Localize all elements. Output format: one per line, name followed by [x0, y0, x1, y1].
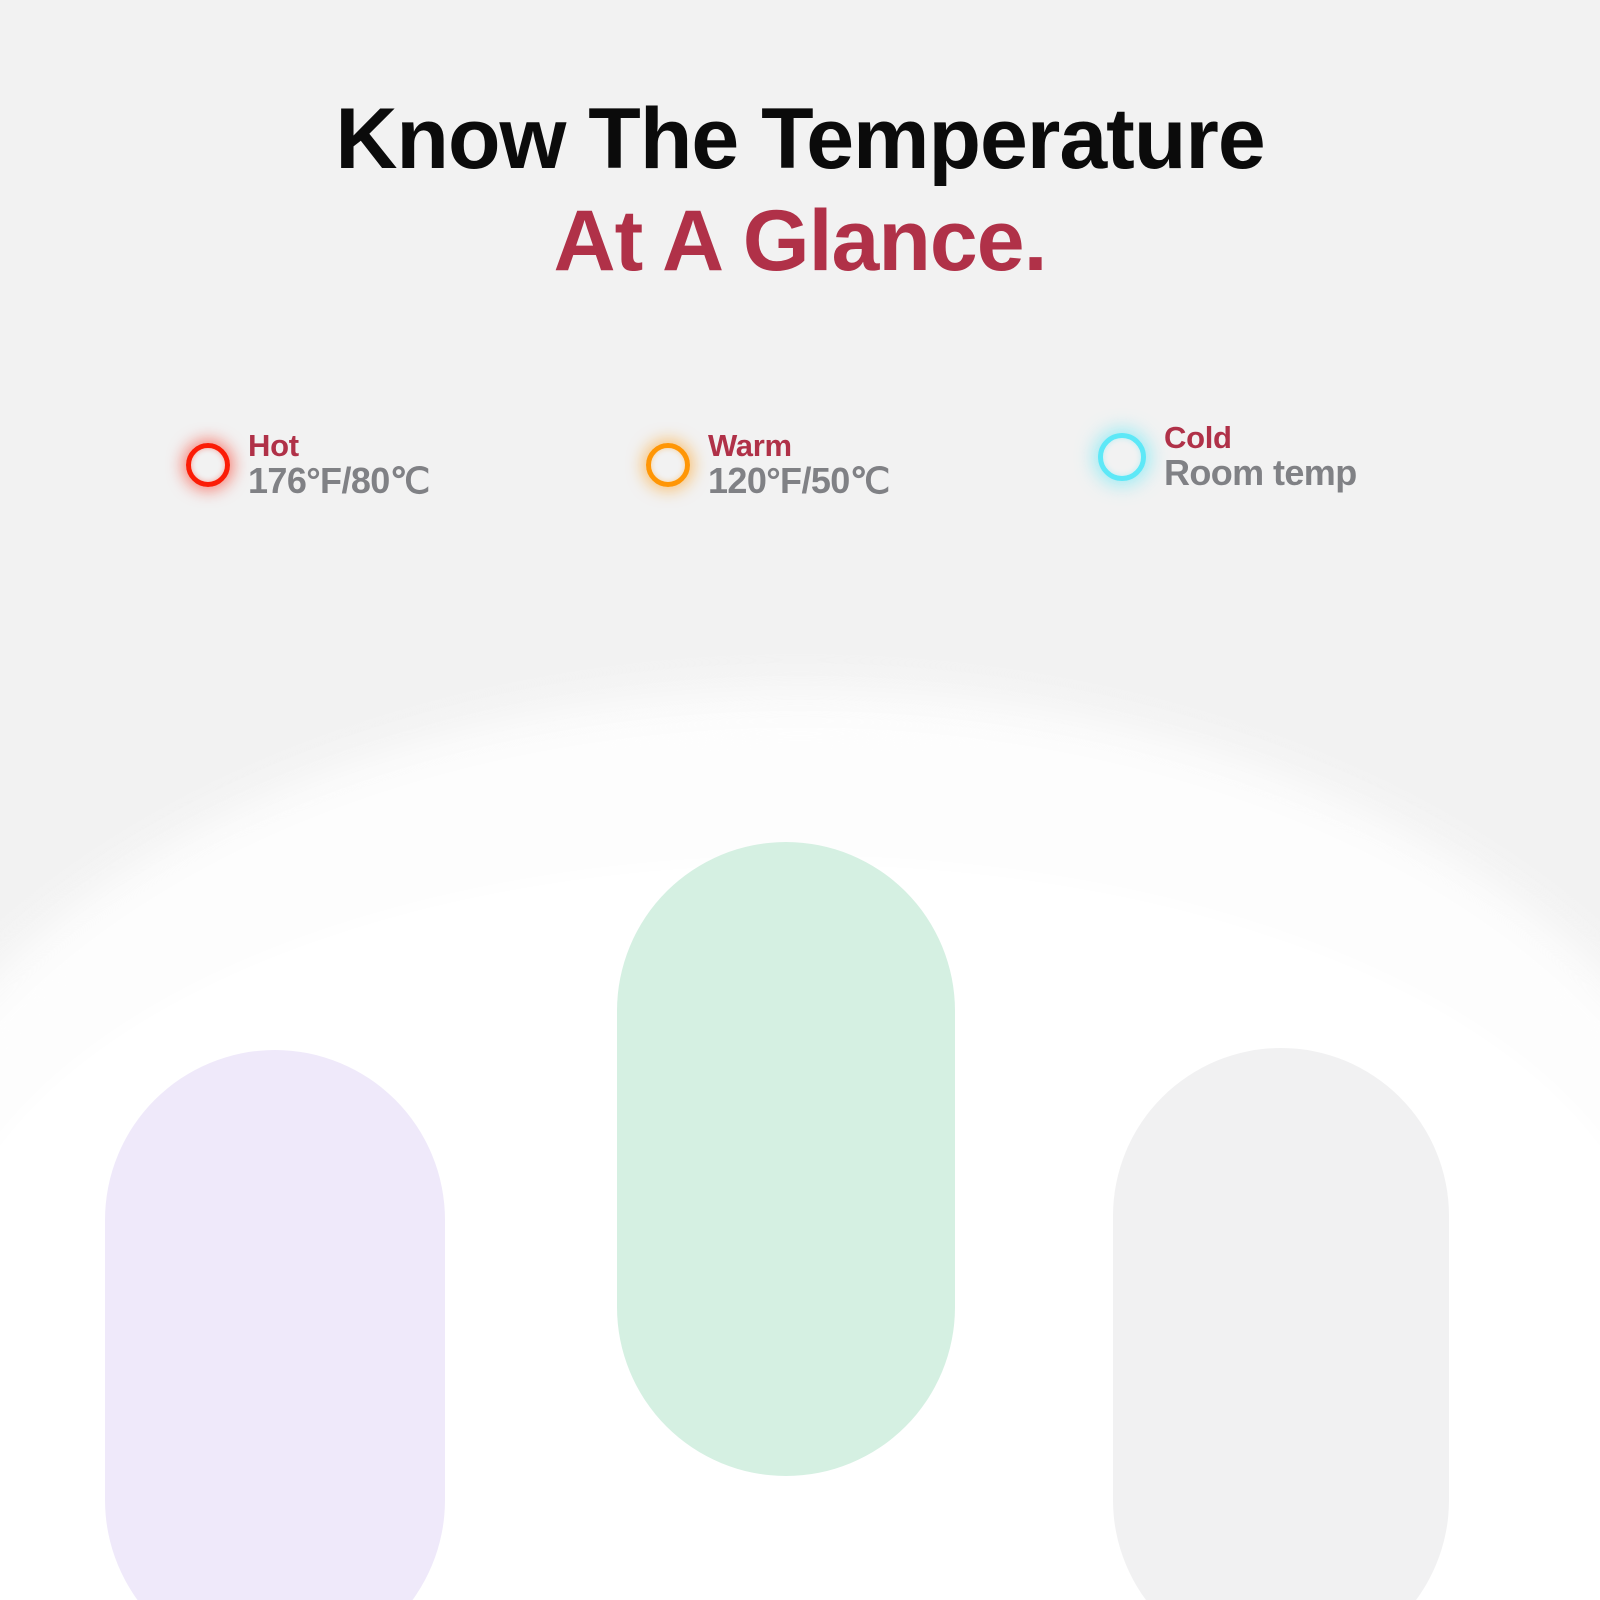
capsule-shape-green: [617, 842, 955, 1476]
capsule-shape-purple: [105, 1050, 445, 1600]
legend-text-warm: Warm 120°F/50℃: [708, 430, 890, 500]
capsule-shape-gray: [1113, 1048, 1449, 1600]
legend-text-hot: Hot 176°F/80℃: [248, 430, 430, 500]
legend-label-warm: Warm: [708, 430, 890, 462]
legend-item-warm[interactable]: Warm 120°F/50℃: [646, 416, 1098, 500]
legend-item-hot[interactable]: Hot 176°F/80℃: [186, 416, 646, 500]
legend-value-warm: 120°F/50℃: [708, 462, 890, 499]
title-line-primary: Know The Temperature: [0, 96, 1600, 182]
legend-label-hot: Hot: [248, 430, 430, 462]
title-line-accent: At A Glance.: [0, 198, 1600, 284]
legend-item-cold[interactable]: Cold Room temp: [1098, 416, 1478, 492]
temperature-legend: Hot 176°F/80℃ Warm 120°F/50℃ Cold Room t…: [186, 416, 1486, 500]
legend-value-hot: 176°F/80℃: [248, 462, 430, 499]
ring-icon-cold: [1098, 433, 1146, 481]
legend-text-cold: Cold Room temp: [1164, 422, 1357, 492]
page-title: Know The Temperature At A Glance.: [0, 96, 1600, 284]
ring-icon-warm: [646, 443, 690, 487]
poster-canvas: Know The Temperature At A Glance. Hot 17…: [0, 0, 1600, 1600]
legend-value-cold: Room temp: [1164, 454, 1357, 491]
ring-icon-hot: [186, 443, 230, 487]
legend-label-cold: Cold: [1164, 422, 1357, 454]
